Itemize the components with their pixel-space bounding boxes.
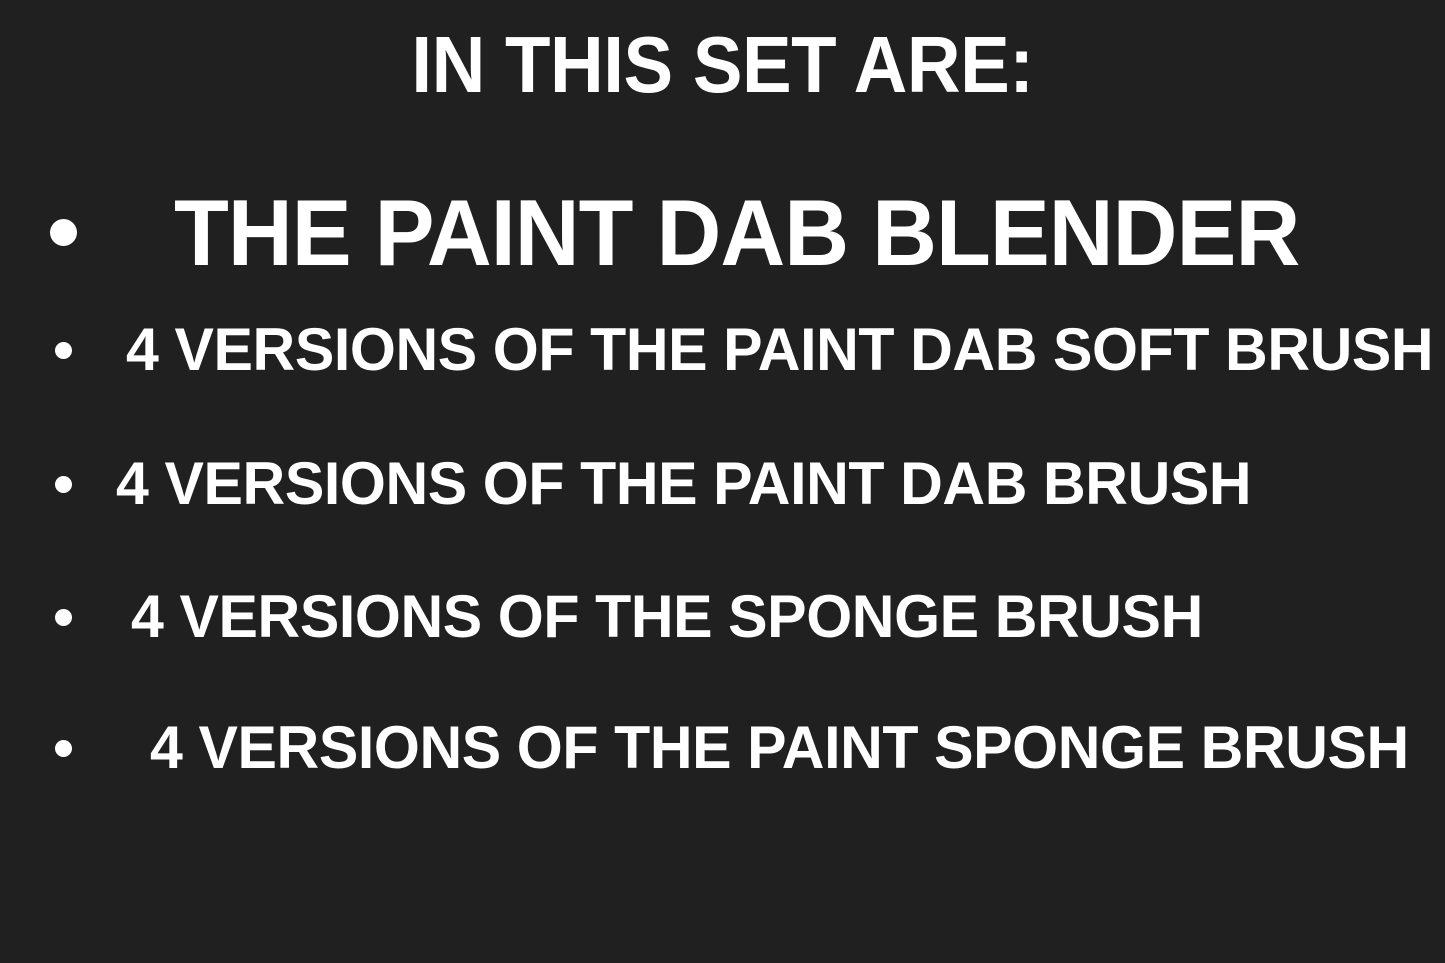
list-item-label: THE PAINT DAB BLENDER bbox=[174, 186, 1299, 280]
circle-bullet-icon bbox=[55, 342, 72, 359]
circle-bullet-icon bbox=[55, 609, 72, 626]
circle-bullet-icon bbox=[50, 219, 77, 246]
list-item-label: 4 VERSIONS OF THE PAINT DAB BRUSH bbox=[116, 454, 1251, 514]
list-item: THE PAINT DAB BLENDER bbox=[0, 186, 1445, 296]
list-item-label: 4 VERSIONS OF THE PAINT SPONGE BRUSH bbox=[150, 718, 1409, 778]
list-item-label: 4 VERSIONS OF THE SPONGE BRUSH bbox=[131, 587, 1203, 647]
slide-canvas: IN THIS SET ARE: THE PAINT DAB BLENDER 4… bbox=[0, 0, 1445, 963]
circle-bullet-icon bbox=[55, 740, 72, 757]
circle-bullet-icon bbox=[55, 476, 72, 493]
list-item: 4 VERSIONS OF THE SPONGE BRUSH bbox=[0, 587, 1445, 657]
list-item: 4 VERSIONS OF THE PAINT SPONGE BRUSH bbox=[0, 718, 1445, 788]
list-item: 4 VERSIONS OF THE PAINT DAB SOFT BRUSH bbox=[0, 320, 1445, 390]
feature-list: THE PAINT DAB BLENDER 4 VERSIONS OF THE … bbox=[0, 0, 1445, 963]
list-item-label: 4 VERSIONS OF THE PAINT DAB SOFT BRUSH bbox=[126, 320, 1433, 380]
list-item: 4 VERSIONS OF THE PAINT DAB BRUSH bbox=[0, 454, 1445, 524]
